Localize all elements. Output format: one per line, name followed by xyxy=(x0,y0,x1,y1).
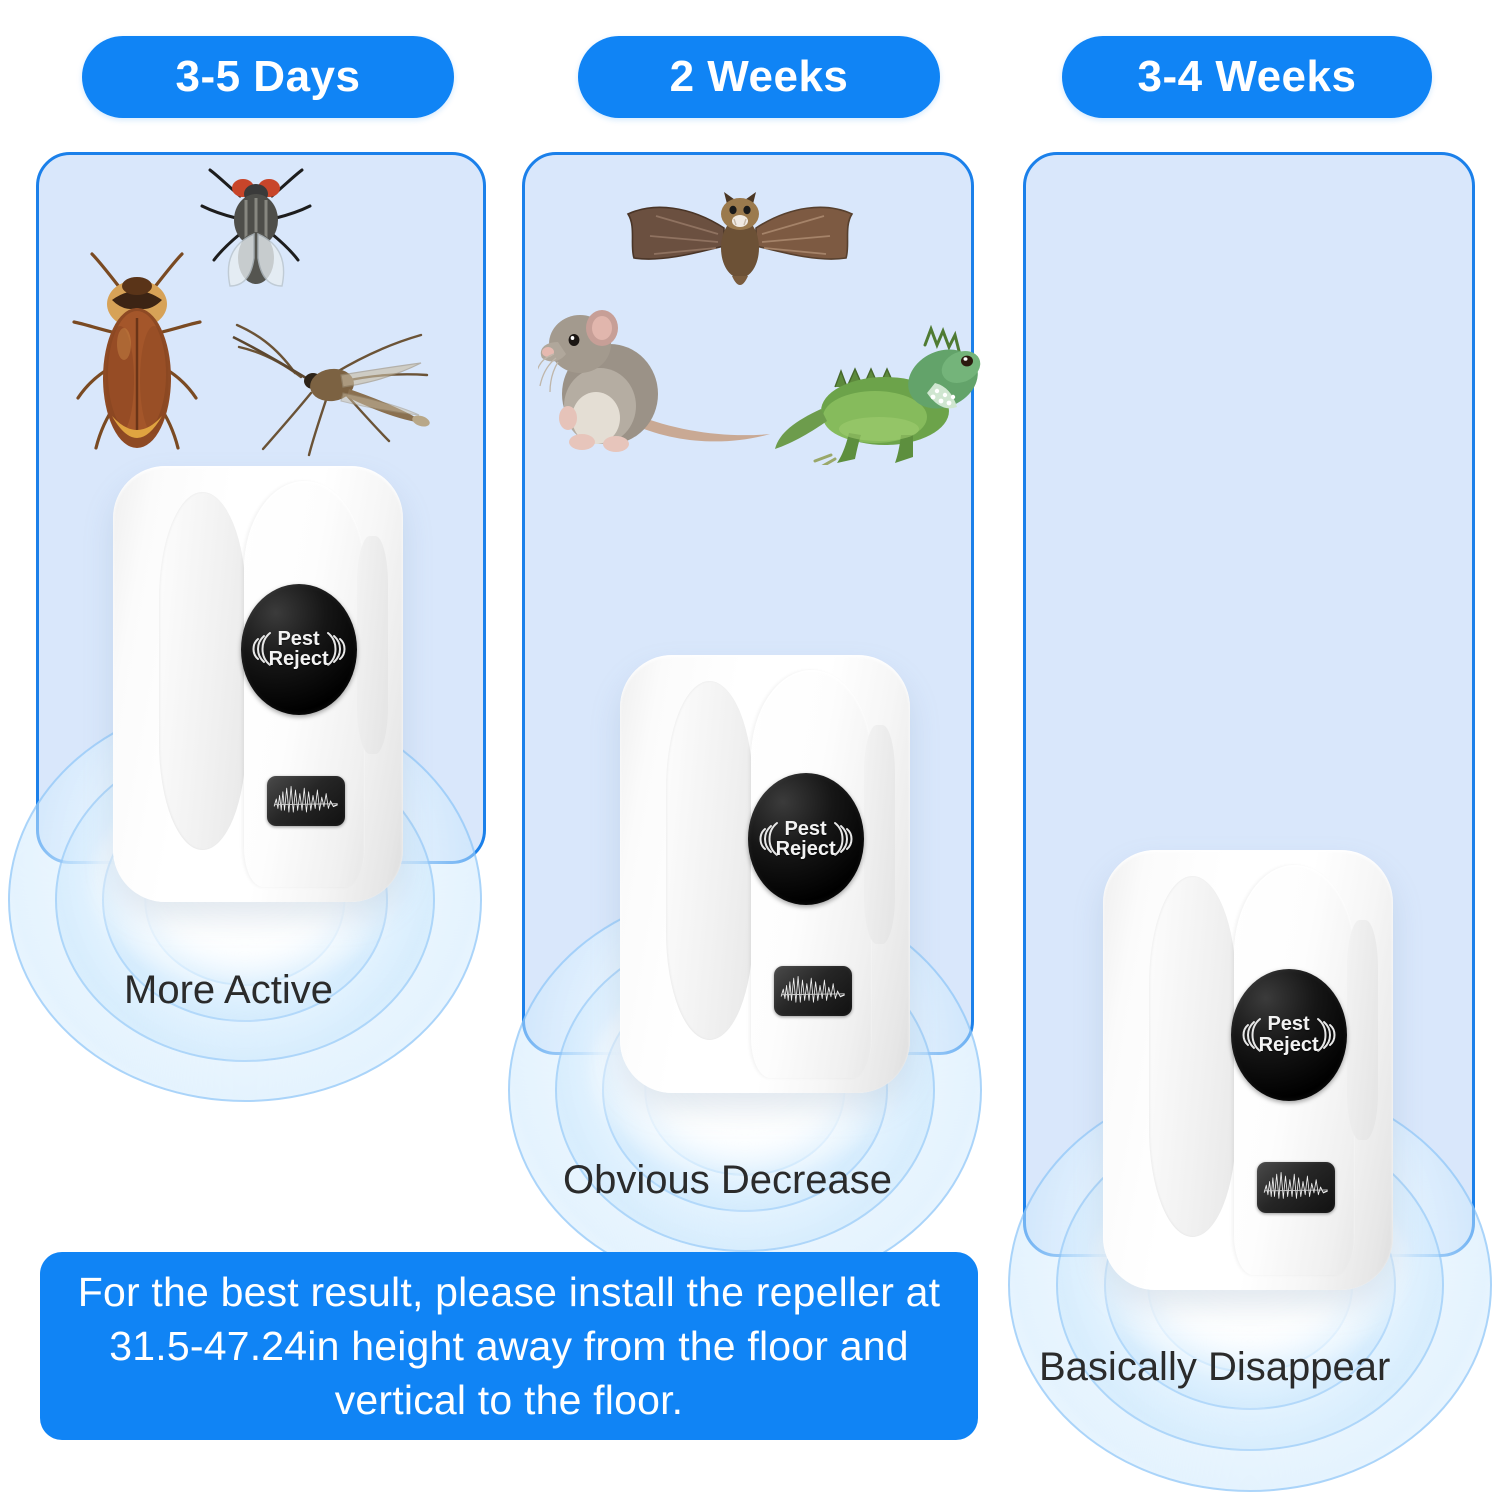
mosquito-icon xyxy=(215,315,440,460)
device-side-groove xyxy=(159,492,246,850)
timeline-pill-2-weeks: 2 Weeks xyxy=(578,36,940,118)
ultrasonic-waveform-icon xyxy=(273,783,339,819)
ultrasonic-waveform-panel xyxy=(1257,1162,1335,1213)
logo-line-1: Pest xyxy=(776,819,836,839)
device-side-groove xyxy=(666,681,753,1040)
cockroach-icon xyxy=(72,248,202,463)
logo-line-2: Reject xyxy=(269,649,329,669)
infographic-stage: 3-5 Days 2 Weeks 3-4 Weeks xyxy=(0,0,1500,1500)
logo-line-1: Pest xyxy=(1259,1014,1319,1034)
stage-result-label-2: Obvious Decrease xyxy=(563,1158,892,1203)
device-edge-tab xyxy=(357,536,389,754)
pill-label: 3-5 Days xyxy=(175,52,360,102)
installation-note-text: For the best result, please install the … xyxy=(66,1265,952,1427)
logo-line-2: Reject xyxy=(1259,1035,1319,1055)
ultrasonic-waveform-icon xyxy=(780,973,846,1009)
pill-label: 3-4 Weeks xyxy=(1138,52,1357,102)
housefly-icon xyxy=(196,162,316,302)
pest-repeller-device-2: Pest Reject xyxy=(620,655,910,1093)
ultrasonic-waveform-panel xyxy=(774,966,852,1016)
pest-reject-logo: Pest Reject xyxy=(748,773,864,904)
logo-line-1: Pest xyxy=(269,629,329,649)
stage-result-label-3: Basically Disappear xyxy=(1039,1345,1390,1390)
logo-line-2: Reject xyxy=(776,839,836,859)
lizard-icon xyxy=(775,325,985,465)
device-edge-tab xyxy=(1347,920,1379,1140)
rat-icon xyxy=(538,296,773,456)
pill-label: 2 Weeks xyxy=(670,52,849,102)
timeline-pill-3-5-days: 3-5 Days xyxy=(82,36,454,118)
installation-note-banner: For the best result, please install the … xyxy=(40,1252,978,1440)
pest-reject-logo: Pest Reject xyxy=(241,584,357,715)
ultrasonic-waveform-icon xyxy=(1263,1169,1329,1205)
ultrasonic-waveform-panel xyxy=(267,776,345,826)
device-side-groove xyxy=(1149,876,1236,1237)
device-edge-tab xyxy=(864,725,896,944)
timeline-pill-3-4-weeks: 3-4 Weeks xyxy=(1062,36,1432,118)
pest-repeller-device-1: Pest Reject xyxy=(113,466,403,902)
pest-reject-logo: Pest Reject xyxy=(1231,969,1347,1101)
pest-repeller-device-3: Pest Reject xyxy=(1103,850,1393,1290)
stage-result-label-1: More Active xyxy=(124,968,333,1013)
